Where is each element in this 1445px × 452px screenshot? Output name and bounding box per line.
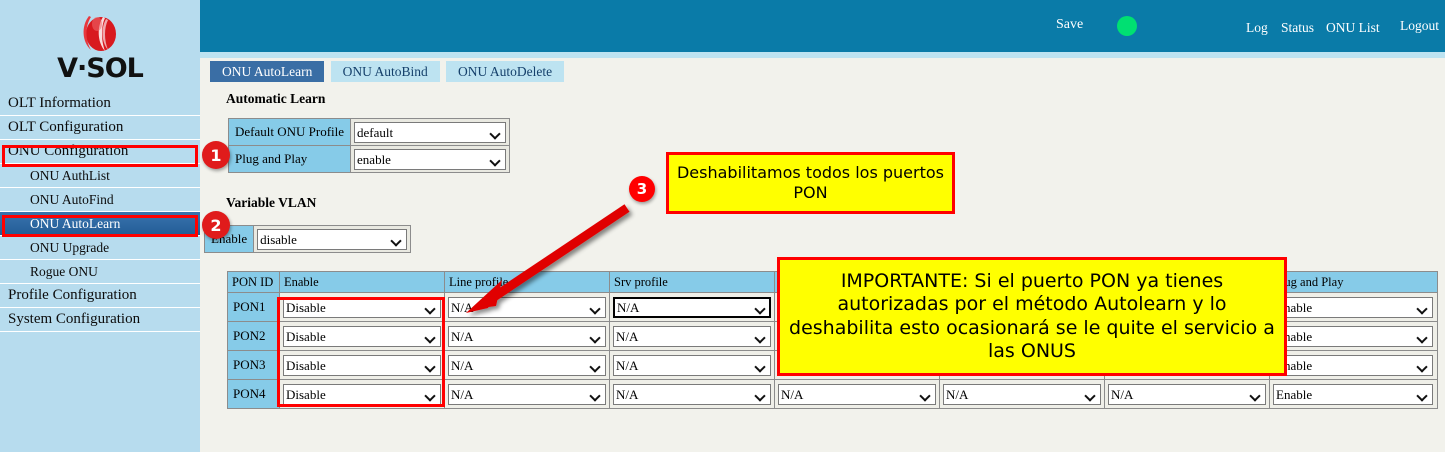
- srv-profile-select-wrap-4: N/A: [613, 384, 771, 405]
- enable-select-wrap-4: Disable: [283, 384, 441, 405]
- default-onu-profile-select-wrap: default: [354, 122, 506, 143]
- tab-onu-autolearn[interactable]: ONU AutoLearn: [210, 61, 324, 82]
- cell-enable: Disable: [280, 322, 445, 351]
- pon4-line-profile-select[interactable]: N/A: [448, 384, 606, 405]
- sidebar-item-onu-authlist[interactable]: ONU AuthList: [0, 164, 200, 188]
- annotation-badge-1: 1: [202, 141, 230, 169]
- line-profile-select-wrap-4: N/A: [448, 384, 606, 405]
- pnp-select-wrap-3: Enable: [1273, 355, 1433, 376]
- pon3-enable-select[interactable]: Disable: [283, 355, 441, 376]
- sidebar-item-profile-configuration[interactable]: Profile Configuration: [0, 284, 200, 308]
- form-row-default-onu-profile: Default ONU Profile default: [229, 119, 510, 146]
- sidebar-item-onu-configuration[interactable]: ONU Configuration: [0, 140, 200, 164]
- header-link-status[interactable]: Status: [1281, 20, 1314, 36]
- pon2-plug-and-play-select[interactable]: Enable: [1273, 326, 1433, 347]
- srv-profile-select-wrap-3: N/A: [613, 355, 771, 376]
- pon4-srv-profile-select[interactable]: N/A: [613, 384, 771, 405]
- cell-pon-id: PON4: [228, 380, 280, 409]
- column-header-enable: Enable: [280, 272, 445, 293]
- cell-line-profile: N/A: [445, 351, 610, 380]
- section-title-automatic-learn: Automatic Learn: [226, 91, 325, 107]
- cell-srv-profile: N/A: [610, 380, 775, 409]
- cell-enable: Disable: [280, 293, 445, 322]
- sidebar-item-onu-autolearn[interactable]: ONU AutoLearn: [0, 212, 200, 236]
- cell-pon-id: PON2: [228, 322, 280, 351]
- label-plug-and-play: Plug and Play: [229, 146, 351, 173]
- column-header-line-profile: Line profile: [445, 272, 610, 293]
- cell-col6: N/A: [940, 380, 1105, 409]
- cell-enable: Disable: [280, 380, 445, 409]
- cell-enable: Disable: [280, 351, 445, 380]
- col7-select-wrap-4: N/A: [1108, 384, 1266, 405]
- sidebar: V·SOL OLT Information OLT Configuration …: [0, 0, 200, 452]
- cell-plug-and-play: Enable: [1270, 322, 1438, 351]
- enable-select-wrap-3: Disable: [283, 355, 441, 376]
- cell-col7: N/A: [1105, 380, 1270, 409]
- status-indicator-icon: [1117, 16, 1137, 36]
- sidebar-item-system-configuration[interactable]: System Configuration: [0, 308, 200, 332]
- sidebar-item-onu-upgrade[interactable]: ONU Upgrade: [0, 236, 200, 260]
- sidebar-item-onu-autofind[interactable]: ONU AutoFind: [0, 188, 200, 212]
- tab-onu-autodelete[interactable]: ONU AutoDelete: [446, 61, 564, 82]
- cell-line-profile: N/A: [445, 380, 610, 409]
- automatic-learn-form: Default ONU Profile default Plug and Pla…: [228, 118, 510, 173]
- pon1-plug-and-play-select[interactable]: Enable: [1273, 297, 1433, 318]
- cell-line-profile: N/A: [445, 293, 610, 322]
- cell-srv-profile: N/A: [610, 351, 775, 380]
- cell-vlan-enable: disable: [254, 226, 411, 253]
- pon4-enable-select[interactable]: Disable: [283, 384, 441, 405]
- pon2-srv-profile-select[interactable]: N/A: [613, 326, 771, 347]
- annotation-callout-disable-pon: Deshabilitamos todos los puertos PON: [666, 152, 955, 214]
- column-header-srv-profile: Srv profile: [610, 272, 775, 293]
- pnp-select-wrap-4: Enable: [1273, 384, 1433, 405]
- cell-srv-profile: N/A: [610, 322, 775, 351]
- brand-name: V·SOL: [57, 55, 143, 82]
- line-profile-select-wrap-2: N/A: [448, 326, 606, 347]
- form-row-vlan-enable: Enable disable: [205, 226, 411, 253]
- cell-pon-id: PON1: [228, 293, 280, 322]
- variable-vlan-form: Enable disable: [204, 225, 411, 253]
- cell-line-profile: N/A: [445, 322, 610, 351]
- form-row-plug-and-play: Plug and Play enable: [229, 146, 510, 173]
- save-button[interactable]: Save: [1056, 17, 1083, 33]
- cell-plug-and-play: enable: [351, 146, 510, 173]
- srv-profile-select-wrap-2: N/A: [613, 326, 771, 347]
- cell-auth-mode: N/A: [775, 380, 940, 409]
- sidebar-item-olt-configuration[interactable]: OLT Configuration: [0, 116, 200, 140]
- sidebar-item-olt-information[interactable]: OLT Information: [0, 92, 200, 116]
- cell-srv-profile: N/A: [610, 293, 775, 322]
- auth-mode-select-wrap-4: N/A: [778, 384, 936, 405]
- cell-pon-id: PON3: [228, 351, 280, 380]
- pon4-plug-and-play-select[interactable]: Enable: [1273, 384, 1433, 405]
- brand-logo: V·SOL: [0, 0, 200, 92]
- section-title-variable-vlan: Variable VLAN: [226, 195, 316, 211]
- sidebar-item-rogue-onu[interactable]: Rogue ONU: [0, 260, 200, 284]
- pnp-select-wrap-1: Enable: [1273, 297, 1433, 318]
- srv-profile-select-wrap-1: N/A: [613, 297, 771, 318]
- vlan-enable-select-wrap: disable: [257, 229, 407, 250]
- header-link-log[interactable]: Log: [1246, 20, 1268, 36]
- line-profile-select-wrap-3: N/A: [448, 355, 606, 376]
- default-onu-profile-select[interactable]: default: [354, 122, 506, 143]
- plug-and-play-select-wrap: enable: [354, 149, 506, 170]
- pon4-auth-mode-select[interactable]: N/A: [778, 384, 936, 405]
- pon1-srv-profile-select[interactable]: N/A: [613, 297, 771, 318]
- tab-onu-autobind[interactable]: ONU AutoBind: [331, 61, 440, 82]
- pon1-line-profile-select[interactable]: N/A: [448, 297, 606, 318]
- vlan-enable-select[interactable]: disable: [257, 229, 407, 250]
- annotation-badge-3: 3: [629, 176, 655, 202]
- main-content: ONU AutoLearn ONU AutoBind ONU AutoDelet…: [200, 58, 1445, 452]
- enable-select-wrap-2: Disable: [283, 326, 441, 347]
- line-profile-select-wrap-1: N/A: [448, 297, 606, 318]
- column-header-plug-and-play: Plug and Play: [1270, 272, 1438, 293]
- cell-plug-and-play: Enable: [1270, 351, 1438, 380]
- cell-plug-and-play: Enable: [1270, 380, 1438, 409]
- pon2-line-profile-select[interactable]: N/A: [448, 326, 606, 347]
- pon2-enable-select[interactable]: Disable: [283, 326, 441, 347]
- enable-select-wrap-1: Disable: [283, 297, 441, 318]
- plug-and-play-select[interactable]: enable: [354, 149, 506, 170]
- pnp-select-wrap-2: Enable: [1273, 326, 1433, 347]
- header-link-onu-list[interactable]: ONU List: [1326, 20, 1380, 36]
- cell-plug-and-play: Enable: [1270, 293, 1438, 322]
- annotation-badge-2: 2: [202, 211, 230, 239]
- pon1-enable-select[interactable]: Disable: [283, 297, 441, 318]
- table-row: PON4 Disable N/A N/A N/A N/A N/A Enable: [228, 380, 1438, 409]
- pon3-srv-profile-select[interactable]: N/A: [613, 355, 771, 376]
- cell-default-onu-profile: default: [351, 119, 510, 146]
- annotation-callout-important: IMPORTANTE: Si el puerto PON ya tienes a…: [777, 257, 1287, 376]
- label-default-onu-profile: Default ONU Profile: [229, 119, 351, 146]
- pon4-col7-select[interactable]: N/A: [1108, 384, 1266, 405]
- top-header-bar: Save Log Status ONU List Logout: [200, 0, 1445, 52]
- header-link-logout[interactable]: Logout: [1400, 18, 1439, 34]
- col6-select-wrap-4: N/A: [943, 384, 1101, 405]
- vsol-logo-icon: [77, 10, 123, 54]
- pon3-line-profile-select[interactable]: N/A: [448, 355, 606, 376]
- column-header-pon-id: PON ID: [228, 272, 280, 293]
- pon3-plug-and-play-select[interactable]: Enable: [1273, 355, 1433, 376]
- pon4-col6-select[interactable]: N/A: [943, 384, 1101, 405]
- tab-bar: ONU AutoLearn ONU AutoBind ONU AutoDelet…: [210, 61, 567, 82]
